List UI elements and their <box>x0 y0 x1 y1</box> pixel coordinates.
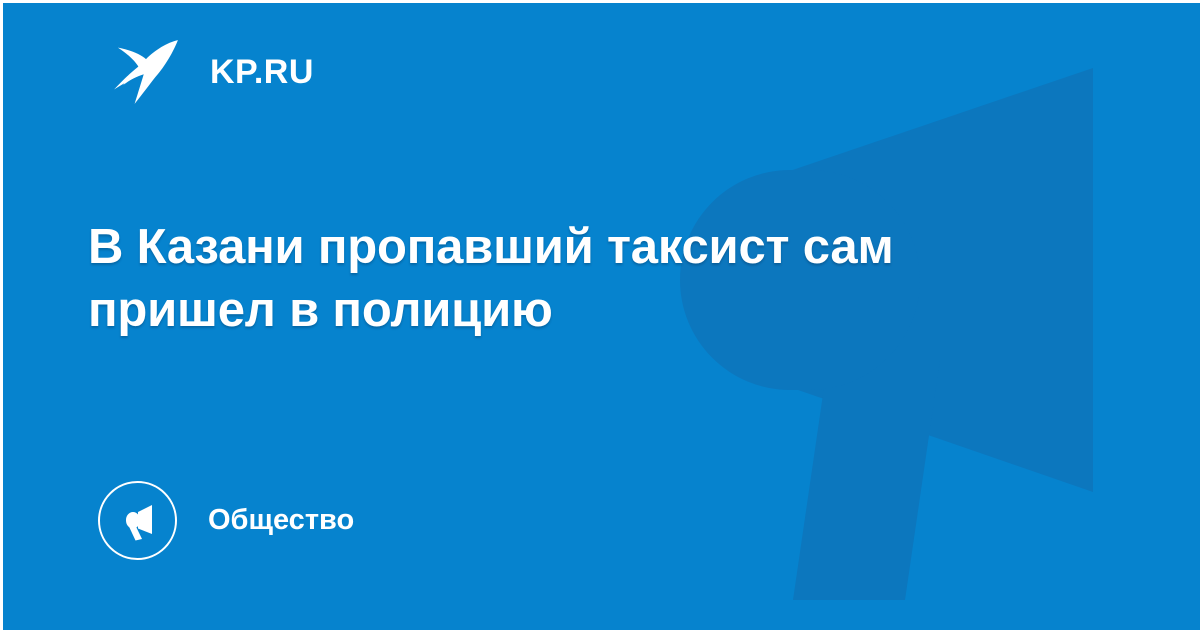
swallow-bird-icon <box>108 34 184 110</box>
rubric-badge[interactable]: Общество <box>98 481 354 560</box>
site-logo[interactable]: KP.RU <box>108 34 314 110</box>
rubric-label: Общество <box>208 506 354 535</box>
edge-bleed-top <box>0 0 1200 3</box>
edge-bleed-left <box>0 0 3 630</box>
brand-wordmark: KP.RU <box>210 55 314 89</box>
page-title: В Казани пропавший таксист сам пришел в … <box>88 216 1068 341</box>
megaphone-icon <box>115 498 161 544</box>
news-share-card: KP.RU В Казани пропавший таксист сам при… <box>0 0 1200 630</box>
rubric-icon-circle <box>98 481 177 560</box>
